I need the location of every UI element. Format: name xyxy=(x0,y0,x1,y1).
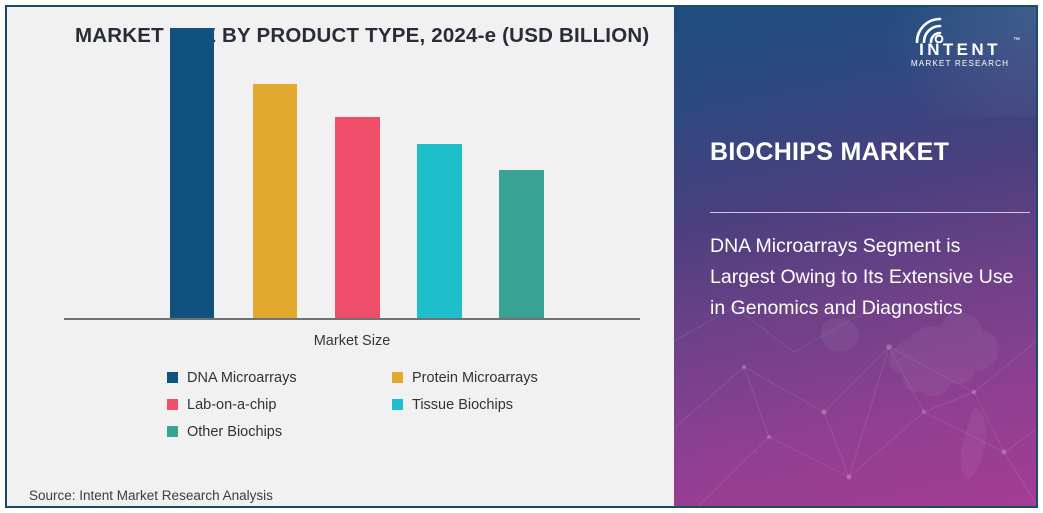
legend-label: Tissue Biochips xyxy=(412,397,513,413)
legend-item-tissue-biochips[interactable]: Tissue Biochips xyxy=(392,397,617,413)
screenshot-root: MARKET SIZE BY PRODUCT TYPE, 2024-e (USD… xyxy=(0,0,1043,513)
x-axis-line xyxy=(64,318,640,320)
logo-trademark: ™ xyxy=(1013,37,1020,44)
panel-divider xyxy=(710,212,1030,213)
bar-tissue-biochips[interactable] xyxy=(417,144,462,319)
panel-subtitle: DNA Microarrays Segment is Largest Owing… xyxy=(710,231,1026,324)
x-axis-label: Market Size xyxy=(64,333,640,349)
legend-item-dna-microarrays[interactable]: DNA Microarrays xyxy=(167,370,392,386)
bar-dna-microarrays[interactable] xyxy=(170,28,214,319)
logo-tagline: MARKET RESEARCH xyxy=(898,59,1022,68)
legend-row: DNA Microarrays Protein Microarrays xyxy=(167,364,637,391)
legend-swatch-icon xyxy=(167,399,178,410)
bar-other-biochips[interactable] xyxy=(499,170,544,319)
legend-label: Lab-on-a-chip xyxy=(187,397,276,413)
source-note: Source: Intent Market Research Analysis xyxy=(29,488,273,503)
legend-swatch-icon xyxy=(167,372,178,383)
legend-swatch-icon xyxy=(392,372,403,383)
panel-title: BIOCHIPS MARKET xyxy=(710,138,949,167)
bar-lab-on-a-chip[interactable] xyxy=(335,117,380,319)
side-panel: INTENT ™ MARKET RESEARCH BIOCHIPS MARKET… xyxy=(674,7,1038,508)
legend-swatch-icon xyxy=(167,426,178,437)
legend-item-protein-microarrays[interactable]: Protein Microarrays xyxy=(392,370,617,386)
legend-row: Other Biochips xyxy=(167,418,637,445)
infographic-frame: MARKET SIZE BY PRODUCT TYPE, 2024-e (USD… xyxy=(5,5,1038,508)
legend-item-lab-on-a-chip[interactable]: Lab-on-a-chip xyxy=(167,397,392,413)
legend-label: DNA Microarrays xyxy=(187,370,297,386)
bar-chart-plot: Market Size xyxy=(7,7,677,337)
legend-label: Other Biochips xyxy=(187,424,282,440)
legend-item-other-biochips[interactable]: Other Biochips xyxy=(167,424,392,440)
legend-row: Lab-on-a-chip Tissue Biochips xyxy=(167,391,637,418)
bar-protein-microarrays[interactable] xyxy=(253,84,297,319)
logo-wordmark: INTENT xyxy=(898,40,1022,60)
legend-label: Protein Microarrays xyxy=(412,370,538,386)
legend-swatch-icon xyxy=(392,399,403,410)
brand-logo[interactable]: INTENT ™ MARKET RESEARCH xyxy=(898,17,1022,73)
bars-layer xyxy=(7,7,677,319)
chart-card: MARKET SIZE BY PRODUCT TYPE, 2024-e (USD… xyxy=(7,7,677,506)
chart-legend: DNA Microarrays Protein Microarrays Lab-… xyxy=(167,364,637,445)
